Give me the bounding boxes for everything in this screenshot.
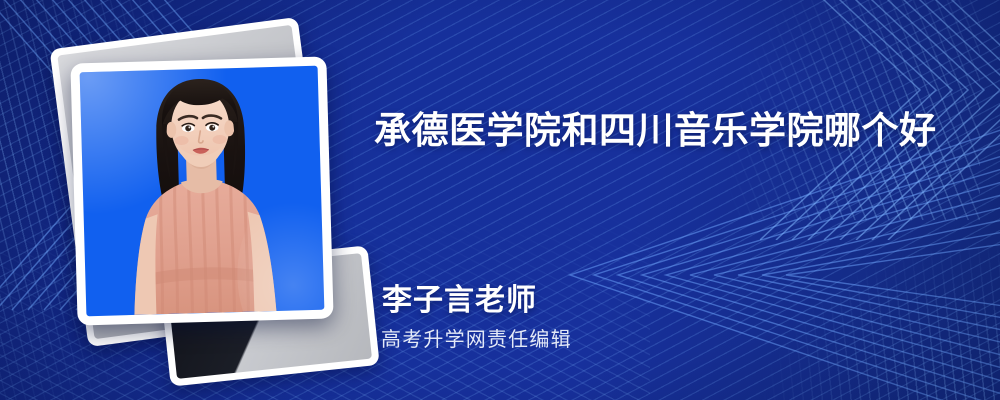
banner-text-block: 承德医学院和四川音乐学院哪个好 李子言老师 高考升学网责任编辑 <box>374 0 974 400</box>
photo-backdrop <box>80 66 325 317</box>
author-role: 高考升学网责任编辑 <box>381 323 572 352</box>
main-photo-card <box>70 56 333 325</box>
photo-stack <box>36 24 366 374</box>
promo-banner: 承德医学院和四川音乐学院哪个好 李子言老师 高考升学网责任编辑 <box>0 0 1000 400</box>
portrait-photo <box>105 66 298 316</box>
author-name: 李子言老师 <box>382 275 537 319</box>
page-title: 承德医学院和四川音乐学院哪个好 <box>374 100 937 154</box>
